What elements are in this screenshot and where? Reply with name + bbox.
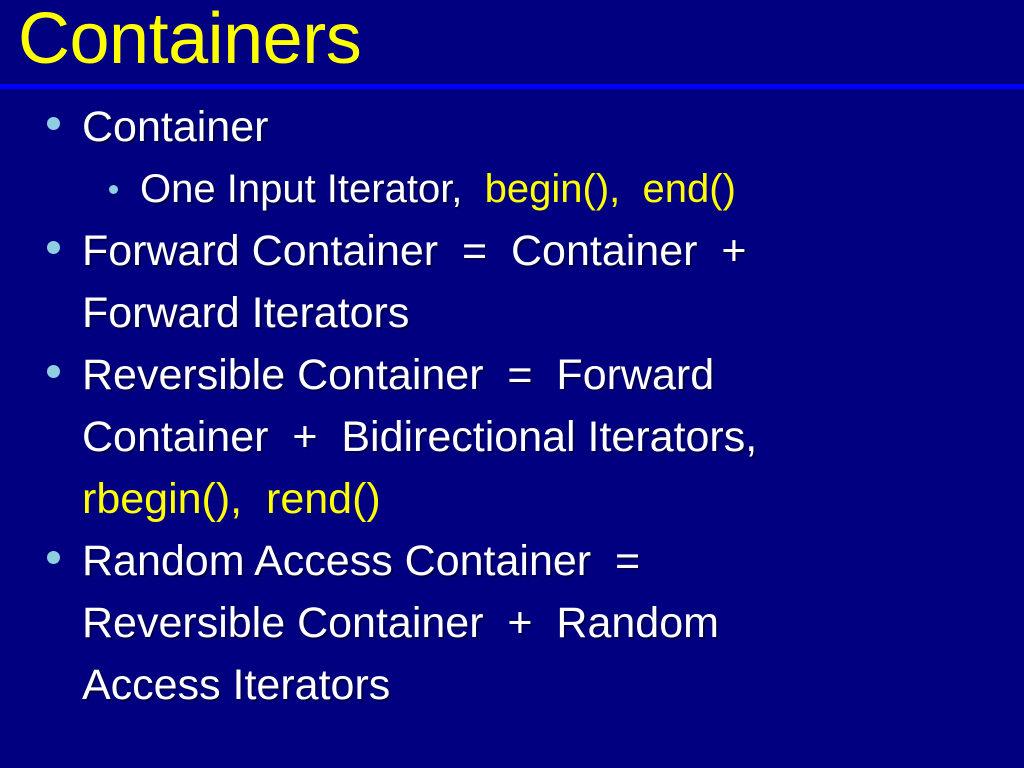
page-title: Containers (18, 0, 361, 82)
list-item: Random Access Container = Reversible Con… (0, 530, 1024, 716)
title-divider-rule (0, 84, 1024, 89)
code-token: rbegin(), rend() (82, 468, 1024, 530)
list-item-label-cont2: Access Iterators (82, 654, 1024, 716)
slide-title-area: Containers (0, 0, 1024, 84)
list-item: Forward Container = Container + Forward … (0, 220, 1024, 344)
list-item: Container (0, 96, 1024, 158)
bullet-dot-icon (47, 551, 60, 564)
list-item-label: One Input Iterator, begin(), end() (140, 158, 1024, 220)
list-item-label-cont: Forward Iterators (82, 282, 1024, 344)
list-item-label-cont: Reversible Container + Random (82, 592, 1024, 654)
bullet-dot-icon (109, 185, 118, 194)
list-item: Reversible Container = Forward Container… (0, 344, 1024, 530)
list-item-label: Container (82, 96, 1024, 158)
presentation-slide: Containers Container One Input Iterator,… (0, 0, 1024, 768)
bullet-dot-icon (47, 365, 60, 378)
list-item-label: Reversible Container = Forward (82, 344, 1024, 406)
code-token: begin(), end() (474, 167, 736, 211)
bullet-dot-icon (47, 241, 60, 254)
slide-body: Container One Input Iterator, begin(), e… (0, 96, 1024, 716)
list-item-label: Random Access Container = (82, 530, 1024, 592)
bullet-dot-icon (47, 117, 60, 130)
list-item-label: Forward Container = Container + (82, 220, 1024, 282)
list-item-text: One Input Iterator, (140, 167, 474, 211)
list-item: One Input Iterator, begin(), end() (0, 158, 1024, 220)
list-item-label-cont: Container + Bidirectional Iterators, (82, 406, 1024, 468)
